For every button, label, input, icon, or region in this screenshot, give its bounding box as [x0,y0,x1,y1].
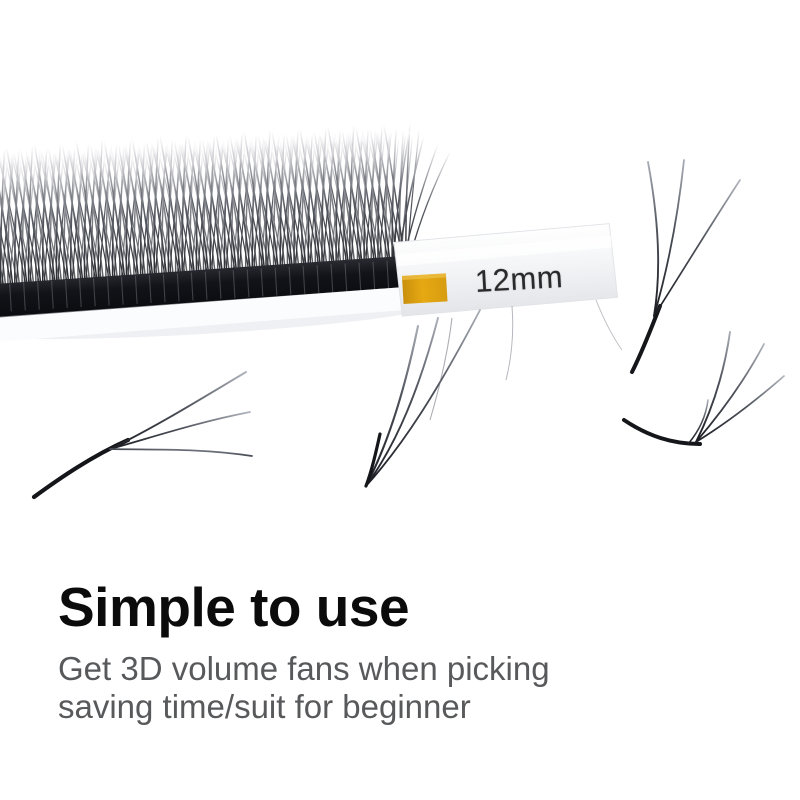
subline-line-1: Get 3D volume fans when picking [58,650,758,688]
product-photo: 12mm [0,0,800,560]
subline-group: Get 3D volume fans when picking saving t… [58,636,758,726]
subline-line-2: saving time/suit for beginner [58,688,758,726]
size-label-text: 12mm [474,259,564,300]
lash-tray-illustration [0,0,800,560]
caption-block: Simple to use Get 3D volume fans when pi… [58,578,758,726]
headline: Simple to use [58,578,758,636]
product-image-canvas: 12mm Simple to use Get 3D volume fans wh… [0,0,800,800]
